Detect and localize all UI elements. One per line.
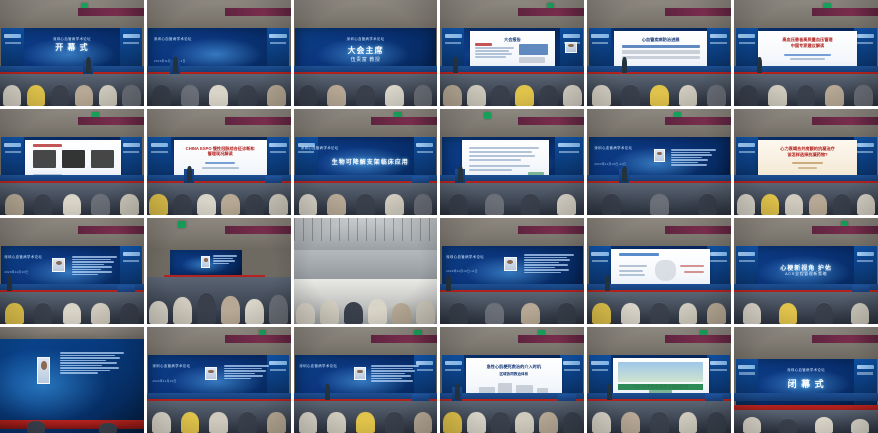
- attendee: [416, 301, 435, 324]
- speaker-figure: [86, 57, 91, 73]
- attendee: [707, 412, 726, 433]
- hall-fascia: [665, 226, 731, 233]
- photo-thumbnail[interactable]: [440, 109, 584, 215]
- presentation-slide: TAVI手术技术规范与临床进展: [613, 358, 709, 397]
- attendee: [221, 194, 240, 215]
- led-subtitle: 深圳心血管病学术论坛: [4, 254, 49, 259]
- attendee: [149, 194, 168, 215]
- attendee: [443, 412, 462, 433]
- photo-thumbnail[interactable]: 深圳心血管病学术论坛 开 幕 式 2023年11月10日: [0, 0, 144, 106]
- hall-fascia: [665, 8, 731, 15]
- attendee: [120, 194, 139, 215]
- attendee: [539, 85, 558, 106]
- led-bio-text: [60, 352, 123, 374]
- attendee: [221, 296, 240, 324]
- hall-fascia: [78, 117, 144, 124]
- photo-thumbnail[interactable]: 急性心肌梗死救治的介入时机 区域协同救治体系: [440, 327, 584, 433]
- attendee: [327, 412, 346, 433]
- attendee: [267, 85, 286, 106]
- attendee: [707, 85, 726, 106]
- led-subtitle: 深圳心血管病学术论坛: [30, 36, 115, 41]
- hall-fascia: [812, 335, 878, 342]
- exit-sign-icon: [484, 112, 491, 118]
- audience-seats: [294, 74, 438, 106]
- attendee: [515, 85, 534, 106]
- hall-fascia: [518, 226, 584, 233]
- attendee: [122, 85, 141, 106]
- presentation-slide: 急性心肌梗死救治的介入时机 区域协同救治体系: [466, 358, 562, 397]
- photo-thumbnail[interactable]: 深圳心血管病学术论坛 2023年11月10日-11日: [147, 0, 291, 106]
- led-bio-text: [224, 365, 269, 379]
- stage-led-backdrop: [170, 250, 242, 278]
- speaker-portrait: [565, 42, 578, 53]
- speaker-figure: [187, 166, 192, 182]
- attendee: [51, 85, 70, 106]
- attendee: [761, 194, 780, 215]
- attendee: [63, 194, 82, 215]
- audience-seats: [0, 292, 144, 324]
- attendee: [385, 85, 404, 106]
- attendee: [557, 303, 576, 324]
- led-bio-text: [371, 365, 419, 382]
- attendee: [815, 303, 834, 324]
- hall-fascia: [665, 335, 731, 342]
- presentation-slide: 心力衰竭合并房颤的抗凝治疗 该怎样选择抗凝药物?: [758, 140, 857, 179]
- led-subtitle: 深圳心血管病学术论坛: [594, 145, 642, 150]
- led-bio-text: [72, 256, 117, 275]
- exit-sign-icon: [178, 221, 185, 227]
- attendee: [679, 412, 698, 433]
- attendee: [120, 303, 139, 324]
- attendee: [385, 194, 404, 215]
- attendee: [443, 85, 462, 106]
- attendee: [650, 303, 669, 324]
- photo-thumbnail[interactable]: CHINA EXPO 慢性冠脉综合征诊断和 管理现况解读: [147, 109, 291, 215]
- led-footer: 2023年11月10日-11日: [154, 59, 230, 63]
- attendee: [854, 85, 873, 106]
- speaker-portrait: [354, 367, 365, 380]
- attendee: [267, 412, 286, 433]
- attendee: [99, 85, 118, 106]
- hall-ceiling: [0, 327, 144, 339]
- speaker-portrait: [37, 357, 50, 385]
- led-bio-text: [524, 254, 575, 273]
- led-title: 开 幕 式: [38, 42, 106, 53]
- attendee: [857, 194, 876, 215]
- led-subtitle: 深圳心血管病学术论坛: [446, 254, 493, 259]
- photo-thumbnail[interactable]: 深圳心血管病学术论坛 2023年11月10日: [147, 327, 291, 433]
- slide-title: 心血管疾病防治进展: [620, 37, 702, 43]
- attendee: [797, 85, 816, 106]
- hall-fascia: [665, 117, 731, 124]
- attendee: [485, 194, 504, 215]
- attendee: [679, 85, 698, 106]
- audience-seats: [734, 183, 878, 215]
- attendee: [743, 303, 762, 324]
- led-footer: 2023年11月10日-11日: [594, 162, 642, 166]
- audience-seats: [147, 277, 291, 324]
- audience-seats: [147, 401, 291, 433]
- audience-seats: [294, 275, 438, 324]
- speaker-figure: [605, 275, 610, 291]
- speaker-figure: [622, 57, 627, 73]
- attendee: [707, 303, 726, 324]
- attendee: [739, 85, 758, 106]
- audience-seats: [0, 74, 144, 106]
- attendee: [91, 194, 110, 215]
- hall-fascia: [225, 8, 291, 15]
- attendee: [197, 194, 216, 215]
- led-subtitle: 深圳心血管病学术论坛: [154, 36, 230, 41]
- photo-thumbnail[interactable]: 心梗新视角 护佑 ACS全程管理新策略: [734, 218, 878, 324]
- attendee: [356, 85, 375, 106]
- hall-fascia: [518, 8, 584, 15]
- attendee: [592, 85, 611, 106]
- attendee: [209, 412, 228, 433]
- audience-seats: [147, 183, 291, 215]
- hall-fascia: [78, 8, 144, 15]
- attendee: [181, 412, 200, 433]
- stage-led-backdrop-closeup: [0, 327, 144, 433]
- attendee: [368, 299, 387, 324]
- speaker-figure: [607, 384, 612, 400]
- audience-seats: [147, 74, 291, 106]
- audience-seats: [734, 74, 878, 106]
- attendee: [173, 194, 192, 215]
- attendee: [621, 85, 640, 106]
- led-subtitle: 深圳心血管病学术论坛: [299, 363, 337, 368]
- hall-fascia: [78, 226, 144, 233]
- audience-seats: [0, 183, 144, 215]
- attendee: [521, 194, 540, 215]
- attendee: [3, 85, 22, 106]
- attendee: [34, 303, 53, 324]
- hall-fascia: [371, 335, 437, 342]
- attendee: [768, 85, 787, 106]
- presentation-slide: [25, 140, 121, 179]
- presentation-slide: 大会报告: [470, 31, 555, 70]
- attendee: [515, 412, 534, 433]
- speaker-figure: [325, 384, 330, 400]
- attendee: [99, 423, 118, 433]
- attendee: [269, 295, 288, 324]
- photo-thumbnail[interactable]: TAVI手术技术规范与临床进展: [587, 327, 731, 433]
- speaker-portrait: [504, 257, 517, 271]
- attendee: [327, 85, 346, 106]
- hall-fascia: [371, 117, 437, 124]
- photo-thumbnail[interactable]: [0, 109, 144, 215]
- stage-skirt: [734, 393, 878, 401]
- slide-subtitle: 中国专家建议解读: [764, 43, 851, 49]
- attendee: [5, 194, 24, 215]
- photo-thumbnail[interactable]: 深圳心血管病学术论坛 2023年11月10日-11日: [440, 218, 584, 324]
- speaker-figure: [458, 166, 463, 182]
- photo-thumbnail[interactable]: 深圳心血管病学术论坛 大会主席 伍贵富 教授 2023年11月10日: [294, 0, 438, 106]
- attendee: [296, 303, 315, 324]
- audience-seats: [294, 401, 438, 433]
- led-title: 生物可降解支架临床应用: [332, 157, 400, 166]
- speaker-figure: [7, 275, 12, 291]
- speaker-figure: [622, 166, 627, 182]
- hall-fascia: [812, 8, 878, 15]
- speaker-figure: [757, 57, 762, 73]
- attendee: [833, 194, 852, 215]
- attendee: [149, 301, 168, 324]
- attendee: [299, 85, 318, 106]
- speaker-figure: [173, 57, 178, 73]
- attendee: [557, 194, 576, 215]
- attendee: [785, 194, 804, 215]
- attendee: [209, 85, 228, 106]
- photo-thumbnail[interactable]: 深圳心血管病学术论坛 闭 幕 式 2023年11月11日: [734, 327, 878, 433]
- audience-seats: [440, 74, 584, 106]
- attendee: [809, 194, 828, 215]
- audience-seats: [587, 292, 731, 324]
- attendee: [851, 419, 870, 433]
- hall-fascia: [225, 335, 291, 342]
- attendee: [245, 194, 264, 215]
- attendee: [181, 85, 200, 106]
- audience-seats: [734, 292, 878, 324]
- photo-thumbnail[interactable]: 生物可降解支架临床应用 深圳心血管病学术论坛: [294, 109, 438, 215]
- audience-seats: [587, 401, 731, 433]
- audience-seats: [587, 74, 731, 106]
- led-subtitle: 深圳心血管病学术论坛: [323, 36, 408, 41]
- hall-fascia: [518, 335, 584, 342]
- attendee: [621, 412, 640, 433]
- audience-seats: [440, 401, 584, 433]
- ceiling-trusses: [294, 218, 438, 241]
- photo-thumbnail[interactable]: 深圳心血管病学术论坛 2023年11月10日: [0, 218, 144, 324]
- attendee: [815, 417, 834, 433]
- attendee: [152, 85, 171, 106]
- audience-seats: [734, 410, 878, 433]
- attendee: [414, 194, 433, 215]
- attendee: [650, 412, 669, 433]
- attendee: [63, 303, 82, 324]
- attendee: [491, 85, 510, 106]
- photo-thumbnail[interactable]: 深圳心血管病学术论坛 2023年11月10日-11日: [587, 109, 731, 215]
- led-bio-text: [213, 255, 237, 264]
- speaker-portrait: [52, 258, 65, 272]
- attendee: [414, 85, 433, 106]
- attendee: [592, 412, 611, 433]
- attendee: [344, 302, 363, 324]
- attendee: [356, 412, 375, 433]
- attendee: [563, 412, 582, 433]
- led-title: 大会主席: [332, 45, 400, 56]
- attendee: [592, 303, 611, 324]
- audience-seats: [440, 292, 584, 324]
- led-bio-text: [671, 149, 716, 166]
- audience-seats: [587, 183, 731, 215]
- led-subtitle: 深圳心血管病学术论坛: [301, 145, 352, 150]
- photo-thumbnail[interactable]: 心血管疾病防治进展: [587, 0, 731, 106]
- led-footer: 2023年11月10日: [4, 270, 49, 274]
- hall-fascia: [225, 226, 291, 233]
- photo-thumbnail[interactable]: [587, 218, 731, 324]
- presentation-slide: 心血管疾病防治进展: [614, 31, 707, 70]
- attendee: [27, 421, 46, 433]
- hall-ceiling: [147, 218, 291, 250]
- presentation-slide: 高血压患者高质量血压管理 中国专家建议解读: [758, 31, 857, 70]
- attendee: [467, 85, 486, 106]
- attendee: [779, 419, 798, 433]
- attendee: [27, 85, 46, 106]
- photo-thumbnail[interactable]: [147, 218, 291, 324]
- led-title: 闭 幕 式: [772, 377, 840, 390]
- led-speaker-name: 伍贵富 教授: [323, 56, 408, 63]
- speaker-portrait: [201, 256, 210, 268]
- hall-fascia: [225, 117, 291, 124]
- attendee: [521, 303, 540, 324]
- speaker-figure: [453, 57, 458, 73]
- photo-thumbnail[interactable]: 大会报告: [440, 0, 584, 106]
- hall-fascia: [812, 117, 878, 124]
- attendee: [269, 194, 288, 215]
- attendee: [414, 412, 433, 433]
- attendee: [743, 417, 762, 433]
- audience-seats: [294, 183, 438, 215]
- slide-subtitle: 管理现况解读: [179, 151, 261, 157]
- attendee: [299, 412, 318, 433]
- speaker-figure: [455, 384, 460, 400]
- attendee: [299, 194, 318, 215]
- attendee: [385, 412, 404, 433]
- slide-title: 急性心肌梗死救治的介入时机: [472, 364, 556, 370]
- attendee: [737, 194, 756, 215]
- attendee: [779, 303, 798, 324]
- photo-thumbnail[interactable]: [294, 218, 438, 324]
- attendee: [650, 194, 669, 215]
- photo-thumbnail[interactable]: 深圳心血管病学术论坛: [294, 327, 438, 433]
- slide-subtitle: 区域协同救治体系: [472, 372, 556, 377]
- attendee: [851, 303, 870, 324]
- audience-seats: [0, 418, 144, 433]
- attendee: [491, 412, 510, 433]
- attendee: [650, 85, 669, 106]
- attendee: [245, 299, 264, 324]
- attendee: [485, 303, 504, 324]
- presentation-slide: [462, 140, 549, 179]
- attendee: [698, 194, 717, 215]
- attendee: [173, 297, 192, 324]
- presentation-slide: [611, 249, 710, 288]
- speaker-figure: [446, 275, 451, 291]
- hall-fascia: [812, 226, 878, 233]
- attendee: [563, 85, 582, 106]
- attendee: [34, 194, 53, 215]
- attendee: [197, 293, 216, 324]
- led-footer: 2023年11月10日-11日: [446, 269, 493, 273]
- attendee: [392, 303, 411, 324]
- attendee: [5, 303, 24, 324]
- hall-ceiling: [734, 327, 878, 359]
- photo-thumbnail[interactable]: [0, 327, 144, 433]
- attendee: [152, 412, 171, 433]
- photo-thumbnail[interactable]: 心力衰竭合并房颤的抗凝治疗 该怎样选择抗凝药物?: [734, 109, 878, 215]
- speaker-portrait: [205, 367, 218, 380]
- attendee: [539, 412, 558, 433]
- attendee: [356, 194, 375, 215]
- hall-fascia: [518, 117, 584, 124]
- photo-thumbnail[interactable]: 高血压患者高质量血压管理 中国专家建议解读: [734, 0, 878, 106]
- attendee: [449, 303, 468, 324]
- attendee: [75, 85, 94, 106]
- attendee: [621, 303, 640, 324]
- photo-grid: 深圳心血管病学术论坛 开 幕 式 2023年11月10日: [0, 0, 878, 433]
- attendee: [825, 85, 844, 106]
- attendee: [320, 300, 339, 324]
- led-subtitle: 深圳心血管病学术论坛: [152, 363, 196, 368]
- attendee: [679, 303, 698, 324]
- audience-seats: [440, 183, 584, 215]
- speaker-portrait: [654, 149, 665, 162]
- attendee: [449, 194, 468, 215]
- led-subtitle: ACS全程管理新策略: [764, 271, 849, 277]
- led-subtitle: 深圳心血管病学术论坛: [764, 367, 849, 372]
- attendee: [602, 194, 621, 215]
- led-footer: 2023年11月10日: [152, 379, 196, 383]
- slide-subtitle: 该怎样选择抗凝药物?: [764, 152, 851, 158]
- attendee: [327, 194, 346, 215]
- attendee: [467, 412, 486, 433]
- attendee: [238, 85, 257, 106]
- attendee: [91, 303, 110, 324]
- attendee: [238, 412, 257, 433]
